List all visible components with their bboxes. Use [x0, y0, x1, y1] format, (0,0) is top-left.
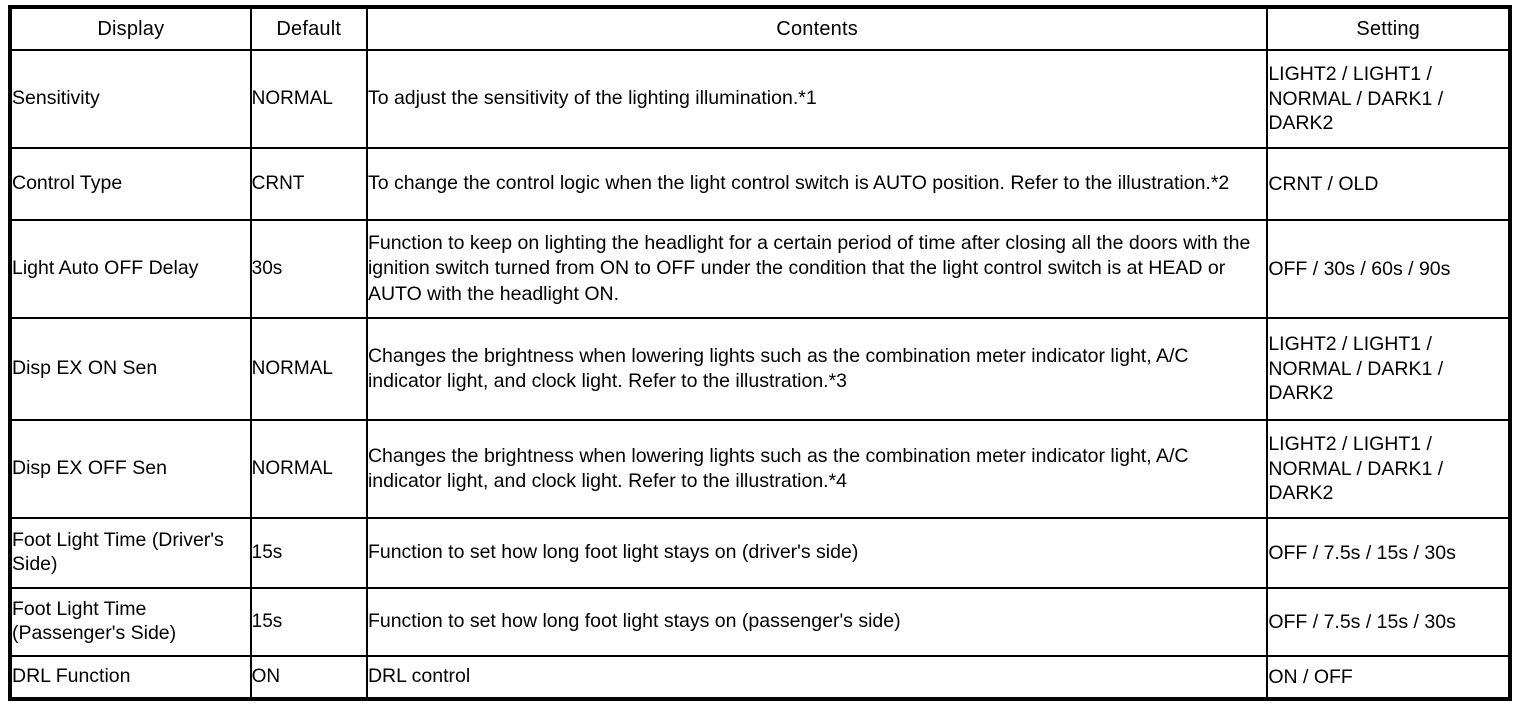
table-body: Sensitivity NORMAL To adjust the sensiti…: [10, 50, 1510, 699]
cell-contents: Function to set how long foot light stay…: [367, 588, 1267, 656]
column-header-default: Default: [251, 7, 367, 50]
document-sheet: Display Default Contents Setting Sensiti…: [0, 0, 1520, 724]
table-row: DRL Function ON DRL control ON / OFF: [10, 656, 1510, 699]
cell-contents: To change the control logic when the lig…: [367, 148, 1267, 220]
cell-default: 15s: [251, 588, 367, 656]
cell-setting: ON / OFF: [1267, 656, 1510, 699]
cell-setting: OFF / 7.5s / 15s / 30s: [1267, 518, 1510, 588]
cell-default: CRNT: [251, 148, 367, 220]
cell-display: Control Type: [10, 148, 251, 220]
cell-display: Foot Light Time (Passenger's Side): [10, 588, 251, 656]
cell-setting: LIGHT2 / LIGHT1 / NORMAL / DARK1 / DARK2: [1267, 420, 1510, 518]
cell-contents: DRL control: [367, 656, 1267, 699]
cell-default: 30s: [251, 220, 367, 318]
cell-display: Foot Light Time (Driver's Side): [10, 518, 251, 588]
cell-default: NORMAL: [251, 420, 367, 518]
customize-function-table: Display Default Contents Setting Sensiti…: [8, 5, 1512, 701]
column-header-display: Display: [10, 7, 251, 50]
cell-setting: CRNT / OLD: [1267, 148, 1510, 220]
cell-contents: To adjust the sensitivity of the lightin…: [367, 50, 1267, 148]
cell-setting: LIGHT2 / LIGHT1 / NORMAL / DARK1 / DARK2: [1267, 318, 1510, 420]
cell-display: Disp EX ON Sen: [10, 318, 251, 420]
cell-default: ON: [251, 656, 367, 699]
column-header-contents: Contents: [367, 7, 1267, 50]
cell-default: NORMAL: [251, 318, 367, 420]
table-row: Sensitivity NORMAL To adjust the sensiti…: [10, 50, 1510, 148]
cell-default: NORMAL: [251, 50, 367, 148]
table-header: Display Default Contents Setting: [10, 7, 1510, 50]
cell-contents: Changes the brightness when lowering lig…: [367, 420, 1267, 518]
cell-setting: OFF / 7.5s / 15s / 30s: [1267, 588, 1510, 656]
table-row: Light Auto OFF Delay 30s Function to kee…: [10, 220, 1510, 318]
table-row: Control Type CRNT To change the control …: [10, 148, 1510, 220]
cell-display: Disp EX OFF Sen: [10, 420, 251, 518]
table-row: Foot Light Time (Driver's Side) 15s Func…: [10, 518, 1510, 588]
cell-contents: Changes the brightness when lowering lig…: [367, 318, 1267, 420]
table-row: Foot Light Time (Passenger's Side) 15s F…: [10, 588, 1510, 656]
cell-setting: OFF / 30s / 60s / 90s: [1267, 220, 1510, 318]
table-header-row: Display Default Contents Setting: [10, 7, 1510, 50]
cell-contents: Function to keep on lighting the headlig…: [367, 220, 1267, 318]
cell-contents: Function to set how long foot light stay…: [367, 518, 1267, 588]
cell-setting: LIGHT2 / LIGHT1 / NORMAL / DARK1 / DARK2: [1267, 50, 1510, 148]
cell-display: Sensitivity: [10, 50, 251, 148]
table-row: Disp EX OFF Sen NORMAL Changes the brigh…: [10, 420, 1510, 518]
cell-display: Light Auto OFF Delay: [10, 220, 251, 318]
cell-display: DRL Function: [10, 656, 251, 699]
table-row: Disp EX ON Sen NORMAL Changes the bright…: [10, 318, 1510, 420]
cell-default: 15s: [251, 518, 367, 588]
column-header-setting: Setting: [1267, 7, 1510, 50]
